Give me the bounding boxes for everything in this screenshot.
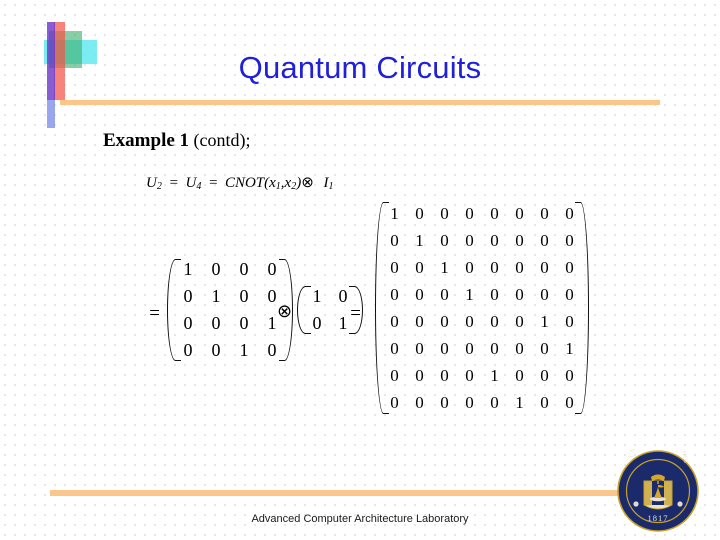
matrix-8x8-cell-5-3: 0 <box>457 335 482 362</box>
matrix-8x8-cell-3-5: 0 <box>507 281 532 308</box>
matrix-8x8-cell-1-2: 0 <box>432 227 457 254</box>
formula-u4-sub: 4 <box>196 181 201 192</box>
matrix-8x8-cell-3-1: 0 <box>407 281 432 308</box>
matrix-8x8-cell-0-3: 0 <box>457 200 482 227</box>
matrix-8x8-cell-1-6: 0 <box>532 227 557 254</box>
formula-i1-sub: 1 <box>329 181 334 192</box>
matrix-8x8-cell-5-1: 0 <box>407 335 432 362</box>
formula-cnot: CNOT <box>225 175 264 191</box>
matrix-8x8-cell-6-3: 0 <box>457 362 482 389</box>
matrix-8x8-cell-5-5: 0 <box>507 335 532 362</box>
example-heading-rest: (contd); <box>194 130 251 150</box>
matrix-8x8-cell-5-6: 0 <box>532 335 557 362</box>
page-title: Quantum Circuits <box>0 50 720 86</box>
matrix-4x4-cell-3-1: 0 <box>202 337 230 364</box>
matrix-2x2-paren-left <box>293 283 304 337</box>
matrix-8x8: 1000000001000000001000000001000000000010… <box>371 200 593 416</box>
formula-tensor-icon: ⊗ <box>301 175 314 191</box>
matrix-8x8-cell-2-1: 0 <box>407 254 432 281</box>
matrix-8x8-cell-7-6: 0 <box>532 389 557 416</box>
matrix-4x4-cell-0-1: 0 <box>202 256 230 283</box>
matrix-8x8-cell-7-1: 0 <box>407 389 432 416</box>
footer-text: Advanced Computer Architecture Laborator… <box>0 513 720 525</box>
formula-equals-2: = <box>208 175 218 191</box>
matrix-8x8-cell-7-5: 1 <box>507 389 532 416</box>
matrix-8x8-cell-0-6: 0 <box>532 200 557 227</box>
matrix-8x8-grid: 1000000001000000001000000001000000000010… <box>382 200 582 416</box>
matrix-8x8-cell-4-2: 0 <box>432 308 457 335</box>
matrix-8x8-cell-1-5: 0 <box>507 227 532 254</box>
matrix-8x8-cell-4-6: 1 <box>532 308 557 335</box>
matrix-8x8-cell-4-3: 0 <box>457 308 482 335</box>
formula-u2-sub: 2 <box>157 181 162 192</box>
formula-u4: U <box>185 175 196 191</box>
matrix-8x8-cell-0-5: 0 <box>507 200 532 227</box>
matrix-8x8-cell-6-5: 0 <box>507 362 532 389</box>
svg-text:1817: 1817 <box>648 513 669 523</box>
matrix-4x4-cell-2-1: 0 <box>202 310 230 337</box>
matrix-8x8-cell-3-2: 0 <box>432 281 457 308</box>
matrix-8x8-paren-right <box>582 200 593 416</box>
matrix-8x8-cell-7-4: 0 <box>482 389 507 416</box>
matrix-8x8-cell-2-2: 1 <box>432 254 457 281</box>
matrix-8x8-cell-4-5: 0 <box>507 308 532 335</box>
matrix-8x8-cell-4-1: 0 <box>407 308 432 335</box>
matrix-8x8-cell-3-4: 0 <box>482 281 507 308</box>
matrix-8x8-cell-1-3: 0 <box>457 227 482 254</box>
matrix-8x8-cell-2-3: 0 <box>457 254 482 281</box>
deco-bar-blue <box>47 100 55 128</box>
university-of-michigan-seal-icon: THE UNIVERSITY OF MICHIGAN 1817 <box>616 449 700 533</box>
footer-divider-bar <box>50 490 622 496</box>
matrix-8x8-cell-6-4: 1 <box>482 362 507 389</box>
matrix-8x8-cell-0-2: 0 <box>432 200 457 227</box>
matrix-8x8-cell-6-2: 0 <box>432 362 457 389</box>
matrix-4x4-paren-left <box>163 256 174 364</box>
title-divider-bar <box>60 100 660 105</box>
matrix-8x8-cell-1-4: 0 <box>482 227 507 254</box>
matrix-8x8-cell-0-1: 0 <box>407 200 432 227</box>
matrix-4x4-cell-1-1: 1 <box>202 283 230 310</box>
matrix-8x8-cell-7-3: 0 <box>457 389 482 416</box>
matrix-8x8-cell-1-1: 1 <box>407 227 432 254</box>
matrix-8x8-cell-2-5: 0 <box>507 254 532 281</box>
matrix-8x8-cell-0-4: 0 <box>482 200 507 227</box>
matrix-8x8-cell-4-4: 0 <box>482 308 507 335</box>
matrix-8x8-cell-5-2: 0 <box>432 335 457 362</box>
matrix-4x4-grid: 1000010000010010 <box>174 256 286 364</box>
matrix-8x8-cell-3-3: 1 <box>457 281 482 308</box>
equals-sign-right: = <box>349 303 362 325</box>
matrix-8x8-cell-5-4: 0 <box>482 335 507 362</box>
slide-canvas: Quantum Circuits Example 1 (contd); U2 =… <box>0 0 720 540</box>
tensor-product-icon: ⊗ <box>277 301 292 322</box>
matrix-8x8-cell-2-6: 0 <box>532 254 557 281</box>
matrix-4x4-cell-3-2: 1 <box>230 337 258 364</box>
matrix-4x4-cell-1-2: 0 <box>230 283 258 310</box>
formula-u2: U <box>146 175 157 191</box>
matrix-4x4-cell-2-2: 0 <box>230 310 258 337</box>
matrix-8x8-cell-6-6: 0 <box>532 362 557 389</box>
example-heading: Example 1 (contd); <box>103 130 251 152</box>
matrix-8x8-paren-left <box>371 200 382 416</box>
equals-sign-left: = <box>148 303 161 325</box>
matrix-8x8-cell-6-1: 0 <box>407 362 432 389</box>
formula-x1: x <box>269 175 276 191</box>
matrix-8x8-cell-7-2: 0 <box>432 389 457 416</box>
example-heading-bold: Example 1 <box>103 130 189 151</box>
matrix-8x8-cell-2-4: 0 <box>482 254 507 281</box>
formula-equals-1: = <box>169 175 179 191</box>
matrix-4x4-cell-0-2: 0 <box>230 256 258 283</box>
formula-line: U2 = U4 = CNOT(x1,x2)⊗ I1 <box>146 173 334 192</box>
matrix-8x8-cell-3-6: 0 <box>532 281 557 308</box>
